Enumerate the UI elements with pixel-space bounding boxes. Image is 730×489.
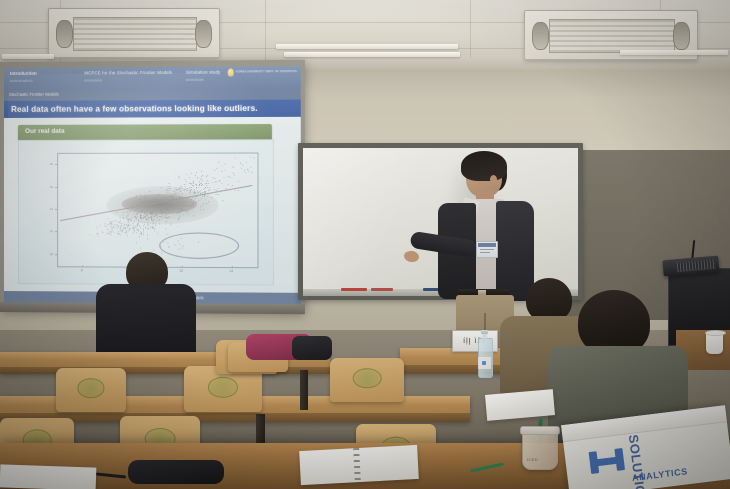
scatter-plot — [57, 153, 258, 269]
university-logo: KOREA UNIVERSITY DEPT. OF STATISTICS — [228, 68, 297, 77]
logo-text: KOREA UNIVERSITY DEPT. OF STATISTICS — [236, 70, 297, 74]
audience-member-front-left — [92, 252, 200, 360]
cable-bundle — [128, 460, 224, 484]
slide-title-text: Real data often have a few observations … — [11, 104, 258, 114]
presenter-name-badge — [476, 241, 498, 258]
y-axis-tick-label: 14 — [43, 207, 53, 211]
backpack — [292, 336, 332, 360]
slide-block-header-text: Our real data — [25, 128, 65, 135]
slide-nav-dots-simulation: ooooooo — [186, 77, 204, 82]
slide-section-label: Stochastic Frontier Models — [9, 92, 59, 97]
slide-nav-item-mcpce: MCPCE for the Stochastic Frontier Models — [84, 70, 172, 76]
slide-nav-dots-mcpce: ooooooo — [84, 77, 102, 82]
water-bottle — [478, 330, 491, 378]
marker-red — [371, 288, 393, 291]
ceiling-light-strip — [284, 52, 460, 57]
ceiling-light-strip — [2, 54, 54, 59]
logo-lamp-icon — [228, 68, 234, 76]
slide-nav-bar: Introduction oooooo#oo MCPCE for the Sto… — [4, 66, 301, 90]
x-axis-tick-label: 8 — [77, 268, 87, 272]
lecture-room-photo: Introduction oooooo#oo MCPCE for the Sto… — [0, 0, 730, 489]
marker-red — [341, 288, 367, 291]
chair — [56, 368, 126, 412]
slide-nav-dots-introduction: oooooo#oo — [10, 78, 33, 83]
slide-block-header: Our real data — [18, 124, 272, 140]
y-axis-tick-label: 16 — [43, 185, 53, 189]
y-axis-tick-label: 12 — [43, 229, 53, 233]
ceiling-light-strip — [276, 44, 458, 49]
iced-cup-text: ICED — [527, 457, 538, 462]
desk-leg — [300, 370, 308, 410]
y-axis-tick-label: 18 — [43, 162, 53, 166]
slide-nav-item-introduction: Introduction — [10, 71, 37, 76]
slide-nav-item-simulation: Simulation study — [186, 70, 221, 75]
plot-axes: 18161412108101214 — [19, 140, 273, 141]
chair — [330, 358, 404, 402]
presenter-hair — [461, 151, 507, 181]
audience-body — [96, 284, 196, 362]
ceiling-ac-unit-left — [48, 8, 220, 58]
paper-cup — [706, 332, 723, 354]
x-axis-tick-label: 14 — [226, 269, 236, 273]
open-notebook — [0, 464, 96, 489]
slide-title-bar: Real data often have a few observations … — [4, 100, 301, 118]
presenter-hand — [403, 250, 419, 263]
open-notebook — [299, 445, 419, 485]
iced-coffee-cup: ICED — [522, 420, 556, 470]
ceiling-light-strip — [620, 50, 728, 55]
y-axis-tick-label: 10 — [43, 252, 53, 256]
